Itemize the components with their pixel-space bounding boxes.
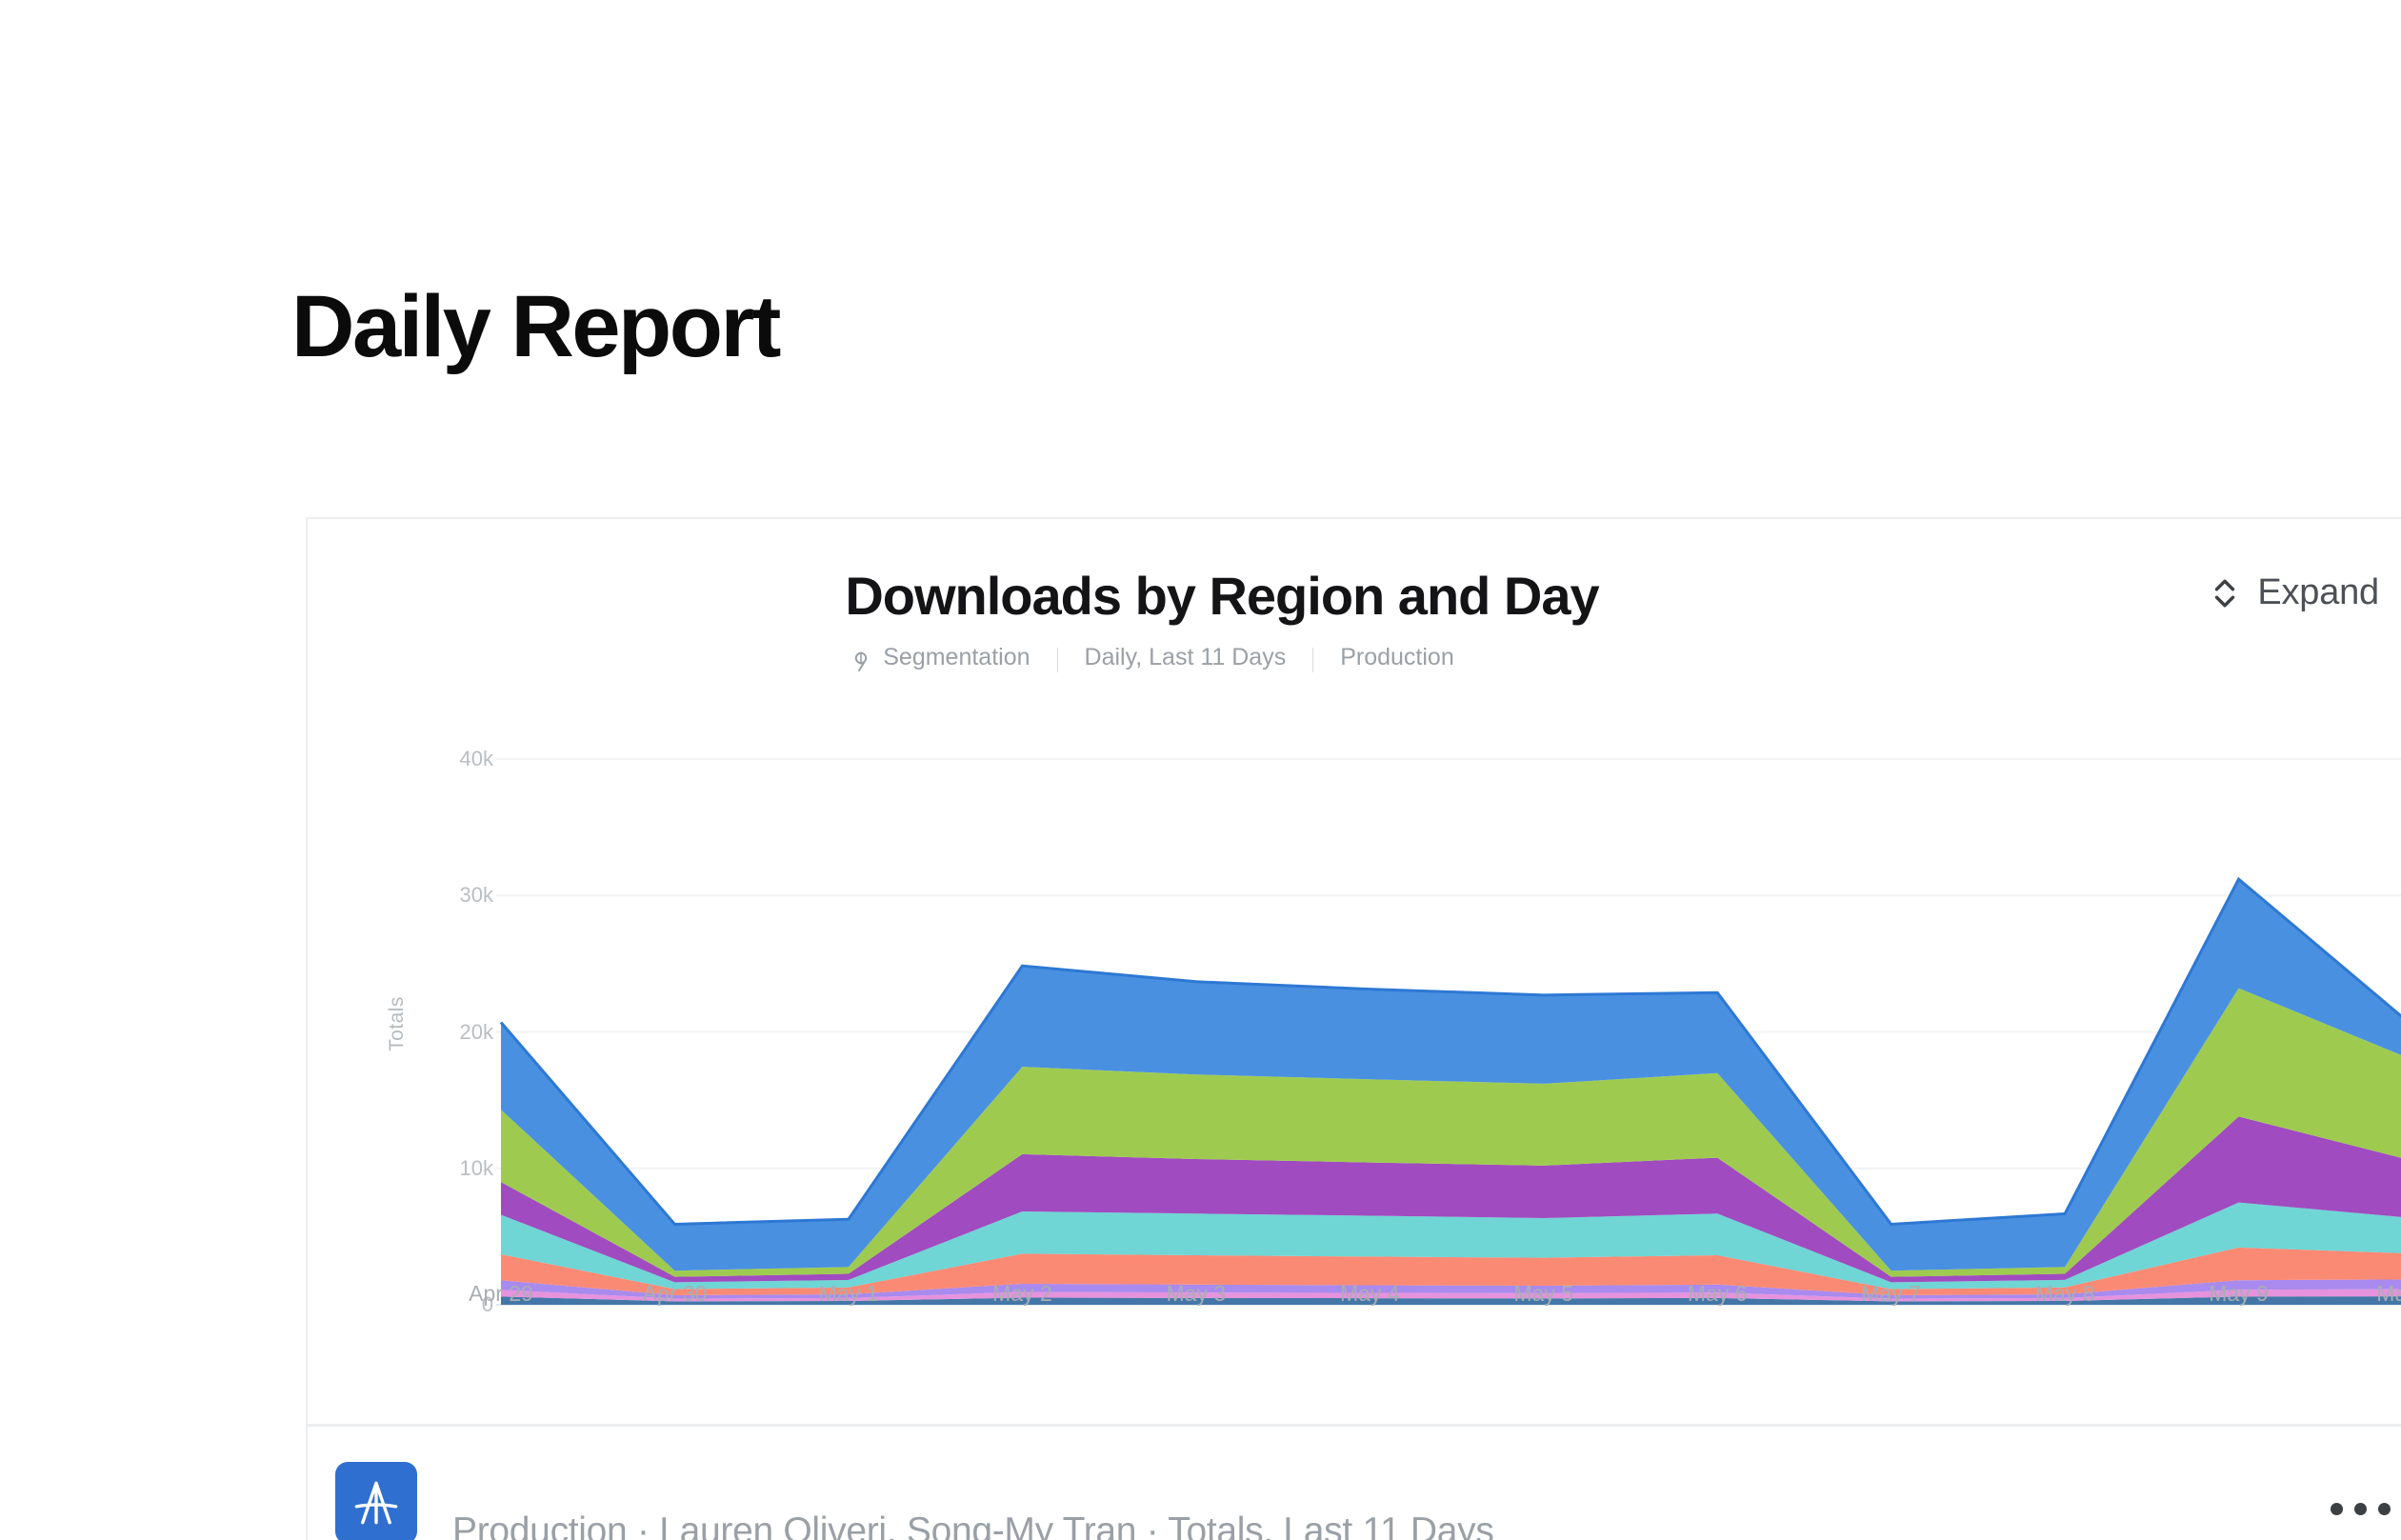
- x-axis-tick: May 2: [992, 1281, 1052, 1307]
- avatar: [335, 1462, 417, 1540]
- y-axis-tick: 40k: [403, 747, 493, 771]
- card-footer: Production · Lauren Oliveri, Song-My Tra…: [308, 1427, 2401, 1540]
- subtitle-separator-2: [1312, 648, 1313, 672]
- chevron-up-down-icon: [2209, 575, 2241, 611]
- y-axis-tick: 20k: [403, 1020, 493, 1045]
- amplitude-logo-icon: [347, 1473, 406, 1532]
- more-horizontal-icon[interactable]: [2321, 1493, 2400, 1525]
- subtitle-environment: Production: [1340, 644, 1454, 671]
- x-axis-tick: May 7: [1861, 1281, 1921, 1307]
- x-axis-tick: May 9: [2209, 1281, 2269, 1307]
- y-axis-tick: 10k: [403, 1156, 493, 1181]
- expand-label: Expand: [2257, 572, 2379, 613]
- x-axis-tick: Apr 29: [469, 1281, 533, 1307]
- y-axis-tick: 30k: [403, 883, 493, 908]
- expand-button[interactable]: Expand: [2199, 567, 2389, 619]
- subtitle-segmentation: Segmentation: [883, 644, 1030, 671]
- page-title: Daily Report: [291, 281, 779, 373]
- report-page: Daily Report Downloads by Region and Day…: [0, 0, 2401, 1540]
- subtitle-cadence: Daily, Last 11 Days: [1085, 644, 1287, 671]
- chart-header: Downloads by Region and Day Segmentation…: [308, 519, 2401, 710]
- x-axis-tick: Apr 30: [643, 1281, 708, 1307]
- x-axis-tick: May 4: [1340, 1281, 1400, 1307]
- segmentation-icon: [851, 650, 874, 672]
- x-axis-tick: May 6: [1688, 1281, 1748, 1307]
- report-card: Downloads by Region and Day Segmentation…: [306, 517, 2401, 1540]
- footer-description: Production · Lauren Oliveri, Song-My Tra…: [452, 1510, 1494, 1540]
- chart-plot-area[interactable]: Totals 010k20k30k40kApr 29Apr 30May 1May…: [308, 710, 2401, 1395]
- x-axis-tick: May 3: [1166, 1281, 1226, 1307]
- x-axis-tick: May 10: [2376, 1281, 2401, 1307]
- chart-title: Downloads by Region and Day: [308, 565, 2401, 627]
- chart-subtitle: Segmentation Daily, Last 11 Days Product…: [308, 644, 2401, 671]
- x-axis-tick: May 5: [1513, 1281, 1573, 1307]
- x-axis-tick: May 8: [2035, 1281, 2095, 1307]
- subtitle-separator-1: [1057, 648, 1058, 672]
- x-axis-tick: May 1: [819, 1281, 879, 1307]
